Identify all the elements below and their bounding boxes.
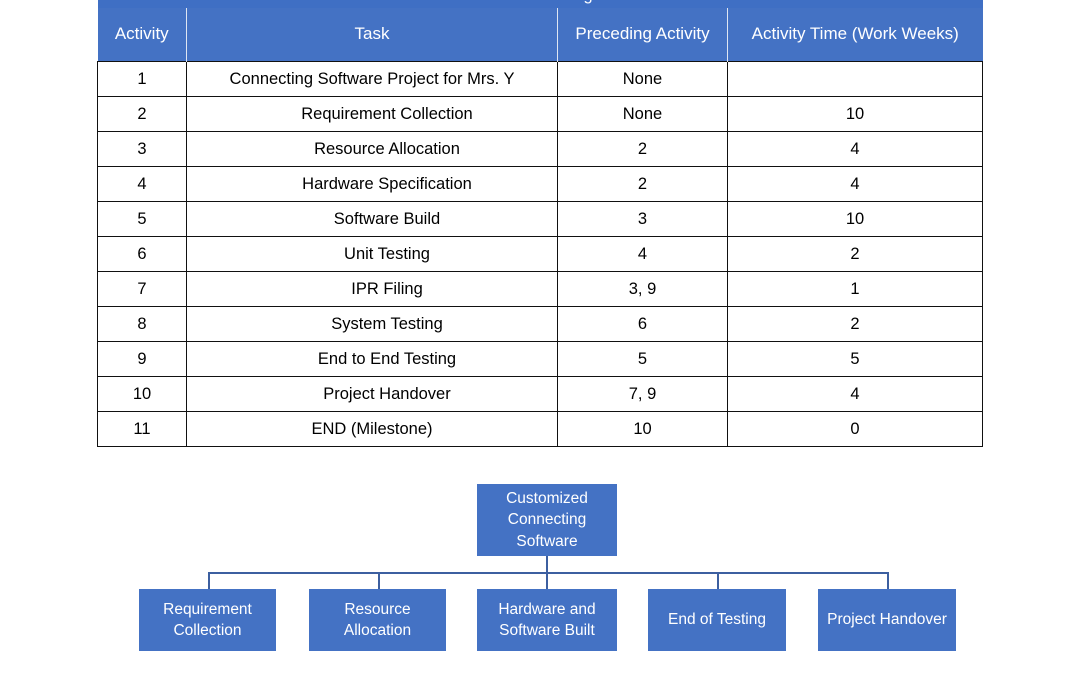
column-header-activity-time: Activity Time (Work Weeks) [728,8,983,62]
table-row: 2Requirement CollectionNone10 [98,97,983,132]
org-node-child[interactable]: Requirement Collection [139,589,276,651]
cell-activity-number: 6 [98,237,187,272]
cell-preceding-activity: None [558,97,728,132]
org-connector-drop [208,572,210,589]
cell-task: End to End Testing [187,342,558,377]
table-row: 10Project Handover7, 94 [98,377,983,412]
cell-activity-number: 2 [98,97,187,132]
cell-task: Resource Allocation [187,132,558,167]
cell-activity-number: 8 [98,307,187,342]
cell-activity-number: 11 [98,412,187,447]
org-connector-drop [887,572,889,589]
org-node-child[interactable]: Project Handover [818,589,956,651]
org-connector-bus [208,572,888,574]
table-row: 4Hardware Specification24 [98,167,983,202]
cell-activity-time: 2 [728,237,983,272]
column-header-task: Task [187,8,558,62]
cell-task: IPR Filing [187,272,558,307]
cell-activity-number: 1 [98,62,187,97]
cell-preceding-activity: 7, 9 [558,377,728,412]
org-chart: Customized Connecting SoftwareRequiremen… [0,470,1080,688]
cell-preceding-activity: 4 [558,237,728,272]
cell-activity-time: 4 [728,167,983,202]
cell-preceding-activity: None [558,62,728,97]
cell-task: Software Build [187,202,558,237]
activity-table: Customized Connecting Software Activity … [97,0,983,447]
cell-task: Project Handover [187,377,558,412]
cell-task: System Testing [187,307,558,342]
cell-activity-number: 4 [98,167,187,202]
org-connector-drop [378,572,380,589]
table-row: 5Software Build310 [98,202,983,237]
cell-activity-number: 5 [98,202,187,237]
org-node-label: Requirement Collection [143,599,272,642]
cell-activity-time: 1 [728,272,983,307]
cell-activity-time: 10 [728,97,983,132]
cell-activity-time: 0 [728,412,983,447]
table-row: 3Resource Allocation24 [98,132,983,167]
org-node-label: End of Testing [668,609,766,630]
org-node-label: Project Handover [827,609,947,630]
cell-preceding-activity: 5 [558,342,728,377]
table-title-row: Customized Connecting Software [98,0,983,8]
column-header-preceding-activity: Preceding Activity [558,8,728,62]
org-node-label: Resource Allocation [313,599,442,642]
org-node-child[interactable]: End of Testing [648,589,786,651]
cell-task: Connecting Software Project for Mrs. Y [187,62,558,97]
table-body: 1Connecting Software Project for Mrs. YN… [98,62,983,447]
cell-activity-time: 4 [728,377,983,412]
cell-preceding-activity: 3 [558,202,728,237]
org-node-child[interactable]: Hardware and Software Built [477,589,617,651]
cell-activity-time: 2 [728,307,983,342]
table-row: 9End to End Testing55 [98,342,983,377]
table-row: 1Connecting Software Project for Mrs. YN… [98,62,983,97]
cell-activity-number: 3 [98,132,187,167]
table-title: Customized Connecting Software [98,0,983,8]
cell-activity-number: 10 [98,377,187,412]
cell-activity-time: 4 [728,132,983,167]
column-header-activity: Activity [98,8,187,62]
cell-activity-number: 7 [98,272,187,307]
cell-activity-time [728,62,983,97]
org-node-child[interactable]: Resource Allocation [309,589,446,651]
cell-preceding-activity: 2 [558,132,728,167]
cell-activity-time: 10 [728,202,983,237]
cell-activity-number: 9 [98,342,187,377]
cell-preceding-activity: 2 [558,167,728,202]
table-row: 7IPR Filing3, 91 [98,272,983,307]
cell-task: END (Milestone) [187,412,558,447]
table-row: 11END (Milestone)100 [98,412,983,447]
cell-task: Hardware Specification [187,167,558,202]
cell-preceding-activity: 6 [558,307,728,342]
cell-task: Unit Testing [187,237,558,272]
table-row: 6Unit Testing42 [98,237,983,272]
cell-preceding-activity: 10 [558,412,728,447]
activity-table-container: Customized Connecting Software Activity … [97,0,982,447]
org-connector-drop [717,572,719,589]
cell-preceding-activity: 3, 9 [558,272,728,307]
table-head: Customized Connecting Software Activity … [98,0,983,62]
org-node-label: Customized Connecting Software [481,488,613,552]
table-row: 8System Testing62 [98,307,983,342]
org-node-root[interactable]: Customized Connecting Software [477,484,617,556]
org-node-label: Hardware and Software Built [481,599,613,642]
table-header-row: Activity Task Preceding Activity Activit… [98,8,983,62]
cell-task: Requirement Collection [187,97,558,132]
cell-activity-time: 5 [728,342,983,377]
